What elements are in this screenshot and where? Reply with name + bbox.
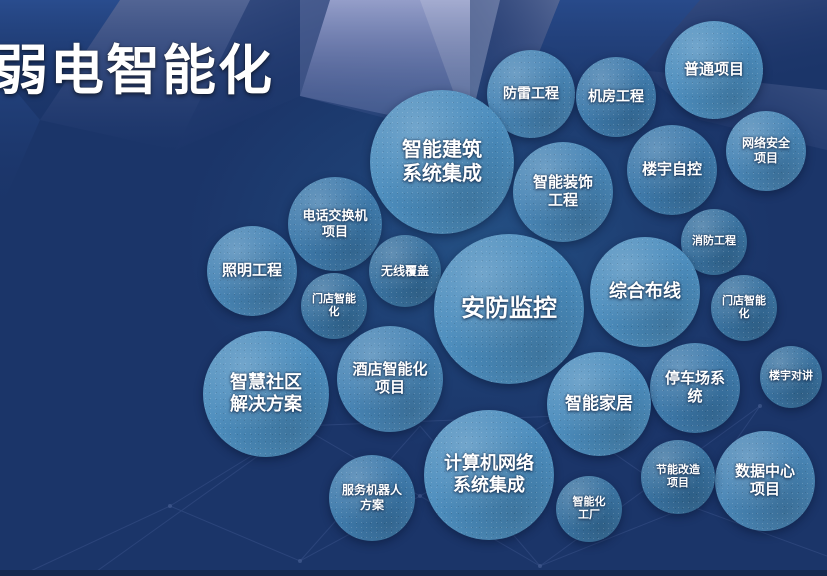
bubble-label: 酒店智能化 项目 (352, 361, 427, 398)
bubble-item[interactable]: 照明工程 (207, 226, 297, 316)
bubble-label: 计算机网络 系统集成 (444, 453, 534, 497)
bubble-item[interactable]: 综合布线 (590, 237, 700, 347)
bubble-item[interactable]: 门店智能 化 (711, 275, 777, 341)
bubble-label: 普通项目 (684, 61, 744, 79)
bubble-label: 智能建筑 系统集成 (402, 138, 482, 187)
bubble-item[interactable]: 电话交换机 项目 (288, 177, 382, 271)
bubble-label: 门店智能 化 (312, 293, 356, 320)
bubble-item[interactable]: 机房工程 (576, 57, 656, 137)
bubble-label: 智能化 工厂 (573, 496, 606, 523)
bubble-item[interactable]: 无线覆盖 (369, 235, 441, 307)
bubble-label: 电话交换机 项目 (302, 208, 367, 240)
bubble-label: 机房工程 (588, 88, 644, 105)
bubble-item[interactable]: 智慧社区 解决方案 (203, 331, 329, 457)
bubble-label: 楼宇自控 (642, 161, 702, 179)
bubble-item[interactable]: 智能建筑 系统集成 (370, 90, 514, 234)
bubble-label: 防雷工程 (503, 85, 559, 102)
bubble-item[interactable]: 普通项目 (665, 21, 763, 119)
bubble-label: 智能装饰 工程 (533, 174, 593, 211)
bottom-edge-strip (0, 570, 827, 576)
bubble-item[interactable]: 节能改造 项目 (641, 440, 715, 514)
bubble-label: 节能改造 项目 (656, 464, 700, 491)
bubble-label: 无线覆盖 (381, 264, 429, 279)
bubble-item[interactable]: 网络安全 项目 (726, 111, 806, 191)
bubble-item[interactable]: 智能家居 (547, 352, 651, 456)
bubble-item[interactable]: 智能化 工厂 (556, 476, 622, 542)
bubble-label: 停车场系 统 (665, 370, 725, 407)
bubble-item[interactable]: 安防监控 (434, 234, 584, 384)
bubble-label: 照明工程 (222, 262, 282, 280)
bubble-item[interactable]: 服务机器人 方案 (329, 455, 415, 541)
bubble-label: 数据中心 项目 (735, 463, 795, 500)
bubble-item[interactable]: 楼宇自控 (627, 125, 717, 215)
bubble-item[interactable]: 门店智能 化 (301, 273, 367, 339)
bubble-item[interactable]: 智能装饰 工程 (513, 142, 613, 242)
bubble-label: 智能家居 (565, 394, 633, 415)
bubble-label: 服务机器人 方案 (342, 483, 402, 512)
page-title: 弱电智能化 (0, 26, 274, 105)
bubble-label: 网络安全 项目 (742, 136, 790, 165)
bubble-label: 综合布线 (609, 281, 681, 303)
bubble-item[interactable]: 楼宇对讲 (760, 346, 822, 408)
bubble-label: 消防工程 (692, 235, 736, 248)
bubble-item[interactable]: 数据中心 项目 (715, 431, 815, 531)
bubble-label: 安防监控 (461, 294, 557, 323)
bubble-label: 门店智能 化 (722, 295, 766, 322)
bubble-label: 智慧社区 解决方案 (230, 372, 302, 416)
bubble-label: 楼宇对讲 (769, 370, 813, 383)
slide-canvas: 弱电智能化 普通项目防雷工程机房工程网络安全 项目智能建筑 系统集成楼宇自控智能… (0, 0, 827, 576)
bubble-item[interactable]: 计算机网络 系统集成 (424, 410, 554, 540)
bubble-item[interactable]: 酒店智能化 项目 (337, 326, 443, 432)
bubble-item[interactable]: 停车场系 统 (650, 343, 740, 433)
